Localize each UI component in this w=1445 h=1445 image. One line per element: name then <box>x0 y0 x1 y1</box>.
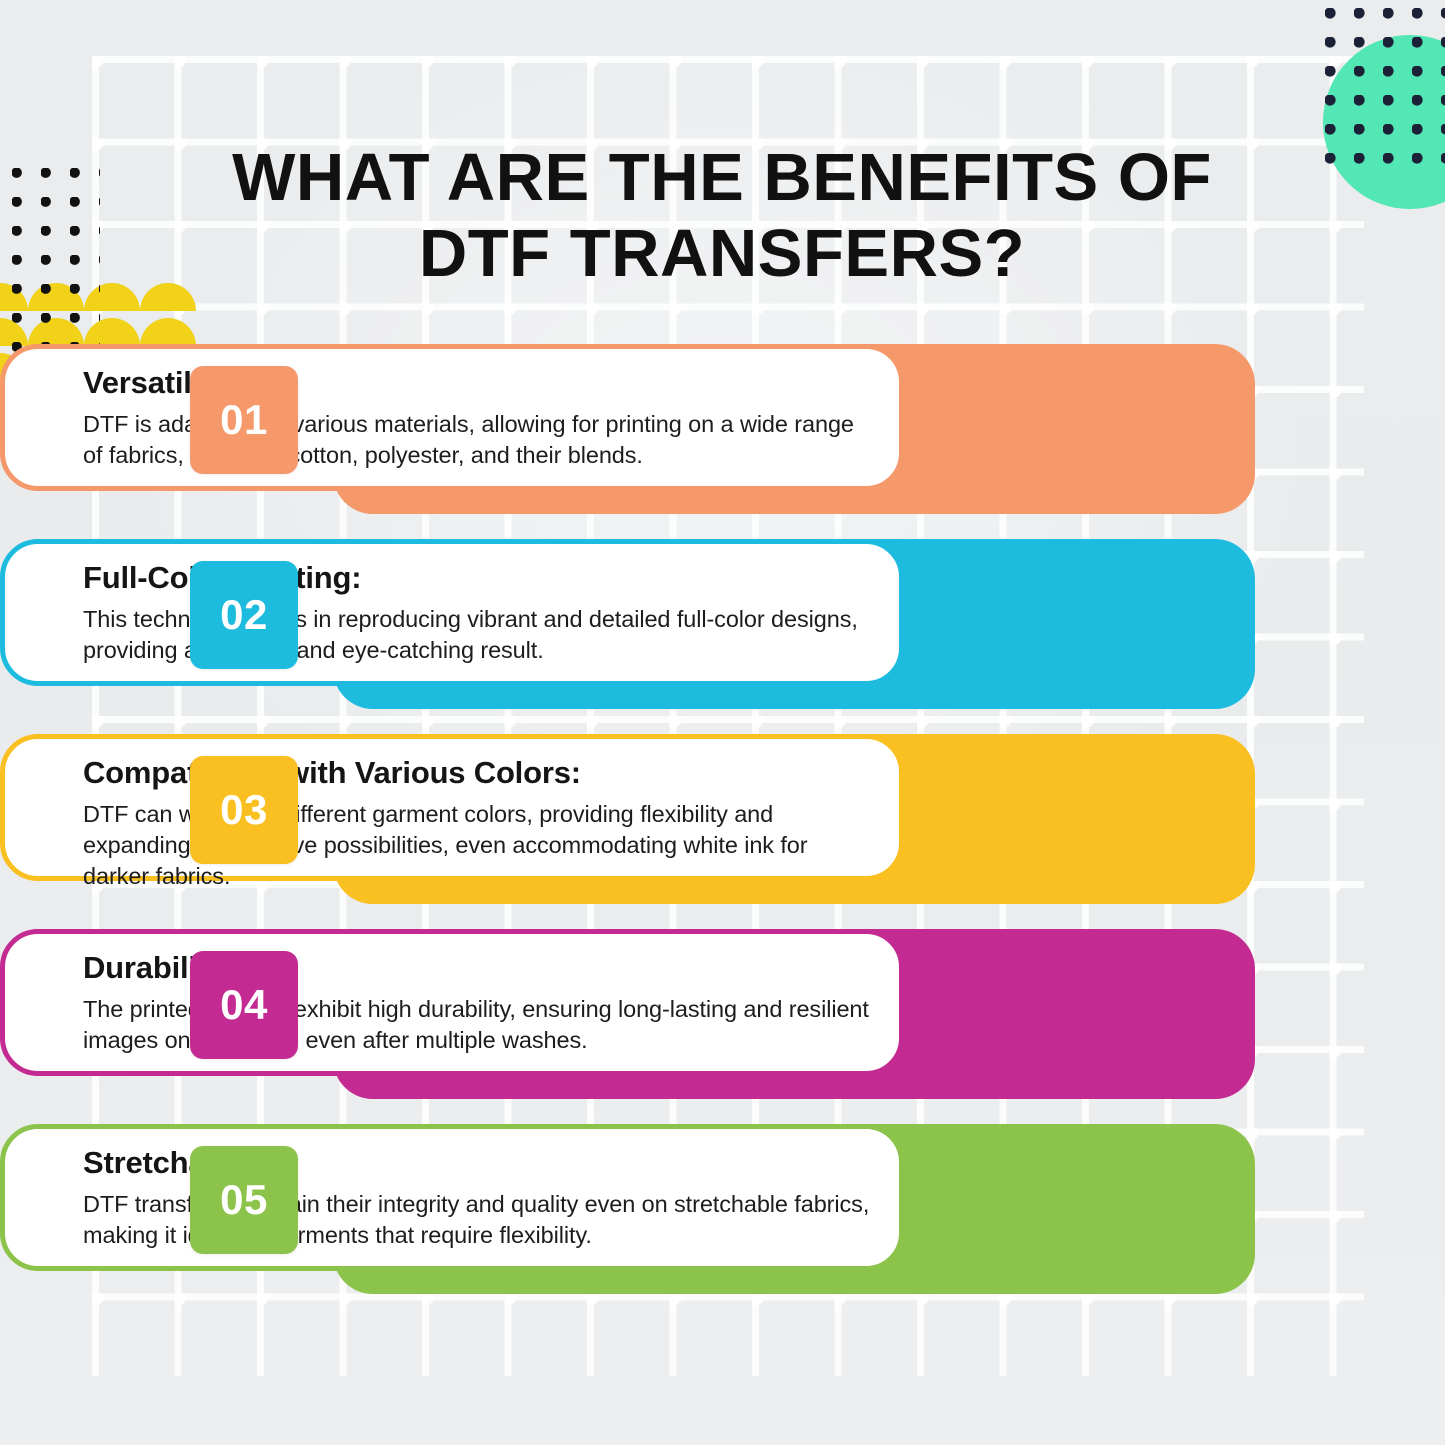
benefit-item: Stretchability:DTF transfers maintain th… <box>0 1124 1445 1319</box>
benefits-list: VersatilityDTF is adaptable to various m… <box>0 344 1445 1319</box>
benefit-card[interactable]: Compatibility with Various Colors:DTF ca… <box>0 734 904 881</box>
benefit-item: Full-Color Printing:This technique excel… <box>0 539 1445 734</box>
benefit-item: Durability:The printed designs exhibit h… <box>0 929 1445 1124</box>
page-title: WHAT ARE THE BENEFITS OF DTF TRANSFERS? <box>162 140 1282 292</box>
navy-dot-grid-decoration <box>1325 8 1445 180</box>
benefit-number-badge: 05 <box>190 1146 298 1254</box>
benefit-item: Compatibility with Various Colors:DTF ca… <box>0 734 1445 929</box>
benefit-number-badge: 03 <box>190 756 298 864</box>
black-dot-grid-decoration <box>12 168 100 368</box>
benefit-card[interactable]: Durability:The printed designs exhibit h… <box>0 929 904 1076</box>
benefit-card[interactable]: Stretchability:DTF transfers maintain th… <box>0 1124 904 1271</box>
page-title-text: WHAT ARE THE BENEFITS OF DTF TRANSFERS? <box>162 140 1282 292</box>
semicircle <box>140 318 196 346</box>
benefit-number-badge: 04 <box>190 951 298 1059</box>
benefit-number-badge: 02 <box>190 561 298 669</box>
benefit-card[interactable]: VersatilityDTF is adaptable to various m… <box>0 344 904 491</box>
benefit-item: VersatilityDTF is adaptable to various m… <box>0 344 1445 539</box>
benefit-card[interactable]: Full-Color Printing:This technique excel… <box>0 539 904 686</box>
benefit-number-badge: 01 <box>190 366 298 474</box>
infographic-poster: WHAT ARE THE BENEFITS OF DTF TRANSFERS? … <box>0 0 1445 1445</box>
